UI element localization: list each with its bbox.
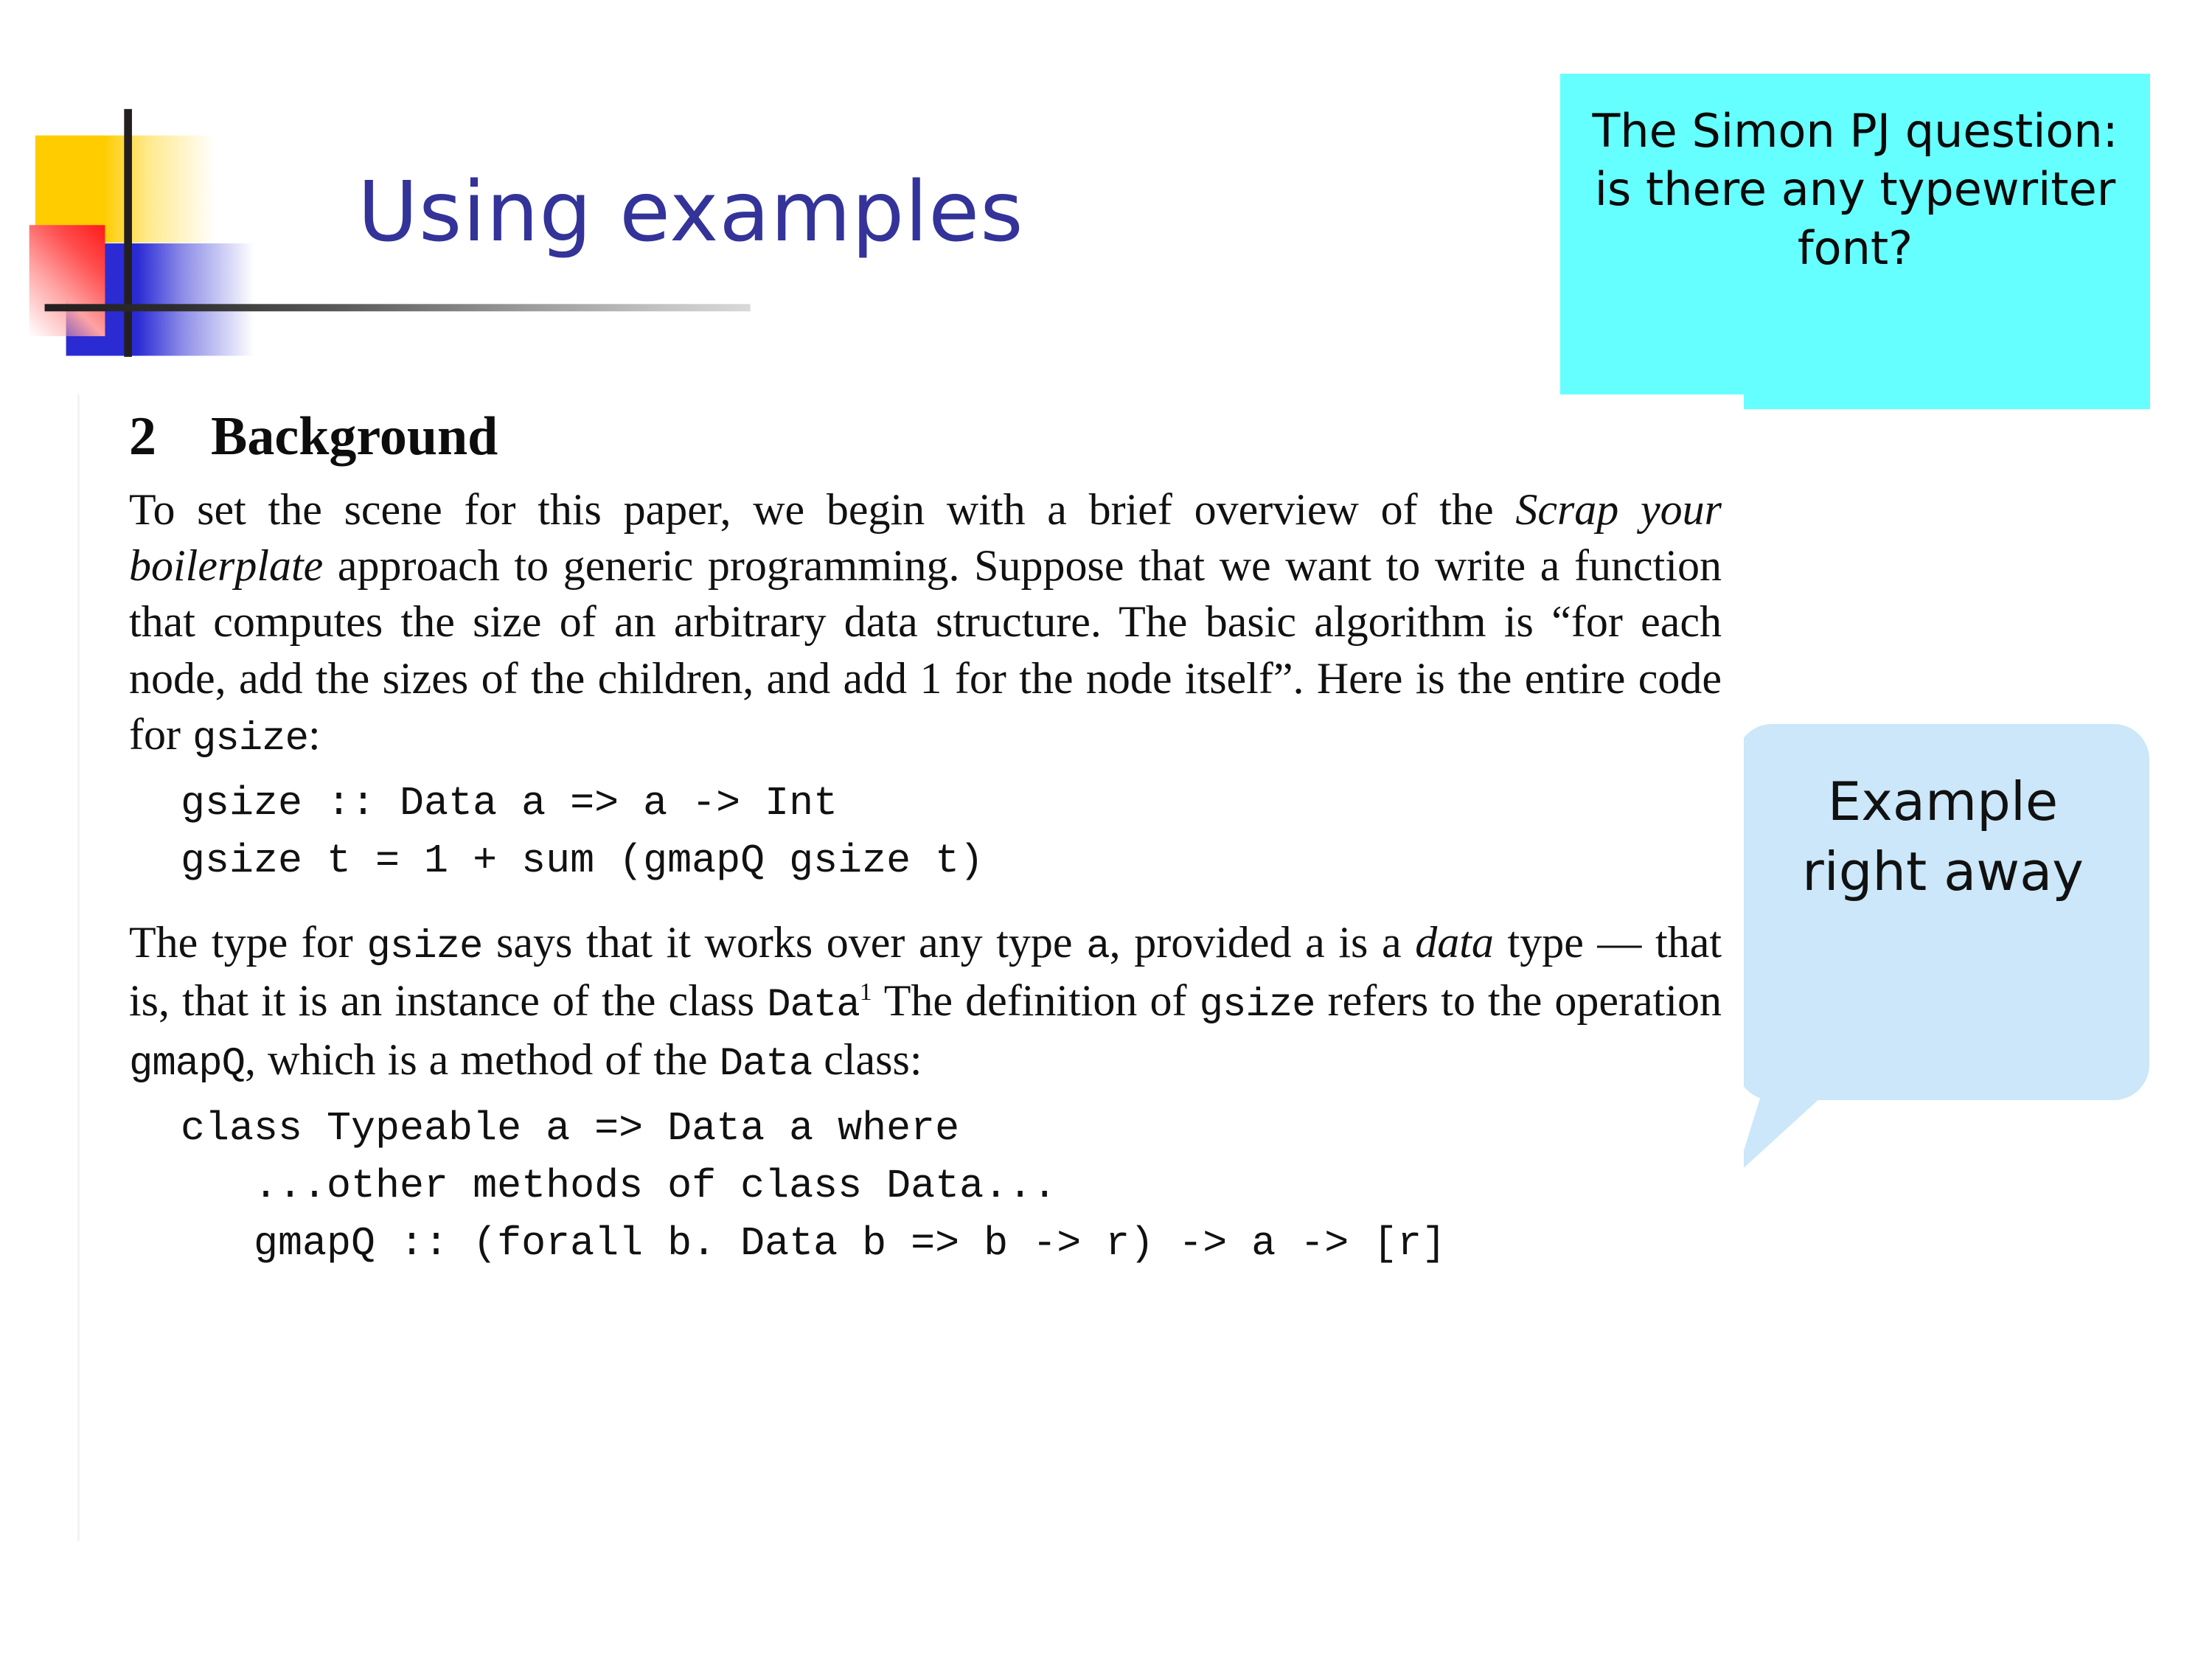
cyan-note-line-1: The Simon PJ question: [1578,102,2132,160]
par2-italic-data: data [1415,918,1494,967]
logo-red-square [29,225,105,336]
par1-colon: : [308,710,321,759]
page-title: Using examples [358,171,1024,254]
logo-vertical-bar [124,109,132,357]
par2-t2: says that it works over any type [482,918,1086,967]
code-block-gsize: gsize :: Data a => a -> Intgsize t = 1 +… [129,765,1744,896]
bubble-line-1: Example [1802,767,2084,837]
par2-code-gsize-1: gsize [366,925,482,970]
slide-canvas: Using examples The Simon PJ question: is… [0,0,2212,1659]
par2-code-gmapQ: gmapQ [129,1042,245,1087]
paragraph-background-1: To set the scene for this paper, we begi… [129,464,1722,765]
par2-code-a: a [1086,925,1109,970]
cyan-note-callout: The Simon PJ question: is there any type… [1560,74,2150,409]
code-line: ...other methods of class Data... [181,1158,1744,1215]
par2-t3: , provided a is a [1110,918,1416,967]
paragraph-background-2: The type for gsize says that it works ov… [129,897,1722,1091]
par2-code-Data-2: Data [720,1042,813,1087]
blue-speech-bubble: Example right away [1733,719,2175,1176]
par1-code-gsize: gsize [192,717,308,762]
section-heading: 2 Background [129,394,1744,464]
cyan-note-line-3: font? [1578,219,2132,277]
code-line: gsize :: Data a => a -> Int [181,775,1744,832]
cyan-note-line-2: is there any typewriter [1578,160,2132,218]
bubble-body: Example right away [1736,724,2149,1100]
code-line: class Typeable a => Data a where [181,1100,1744,1158]
code-line: gsize t = 1 + sum (gmapQ gsize t) [181,832,1744,890]
code-line: gmapQ :: (forall b. Data b => b -> r) ->… [181,1215,1744,1273]
par2-t1: The type for [129,918,366,967]
par2-t5: The definition of [872,976,1200,1025]
bubble-line-2: right away [1802,837,2084,907]
footnote-marker: 1 [860,978,872,1006]
scanned-paper-excerpt: 2 Background To set the scene for this p… [77,394,1744,1541]
bubble-text: Example right away [1802,767,2084,907]
par2-code-Data-1: Data [767,983,860,1028]
par2-t8: class: [812,1035,922,1084]
par1-rest: approach to generic programming. Suppose… [129,541,1722,759]
par2-code-gsize-2: gsize [1200,983,1315,1028]
par1-lead: To set the scene for this paper, we begi… [129,485,1515,534]
code-block-class-data: class Typeable a => Data a where ...othe… [129,1090,1744,1279]
title-underline-rule [45,304,751,311]
par2-t7: , which is a method of the [245,1035,720,1084]
par2-t6: refers to the operation [1315,976,1722,1025]
